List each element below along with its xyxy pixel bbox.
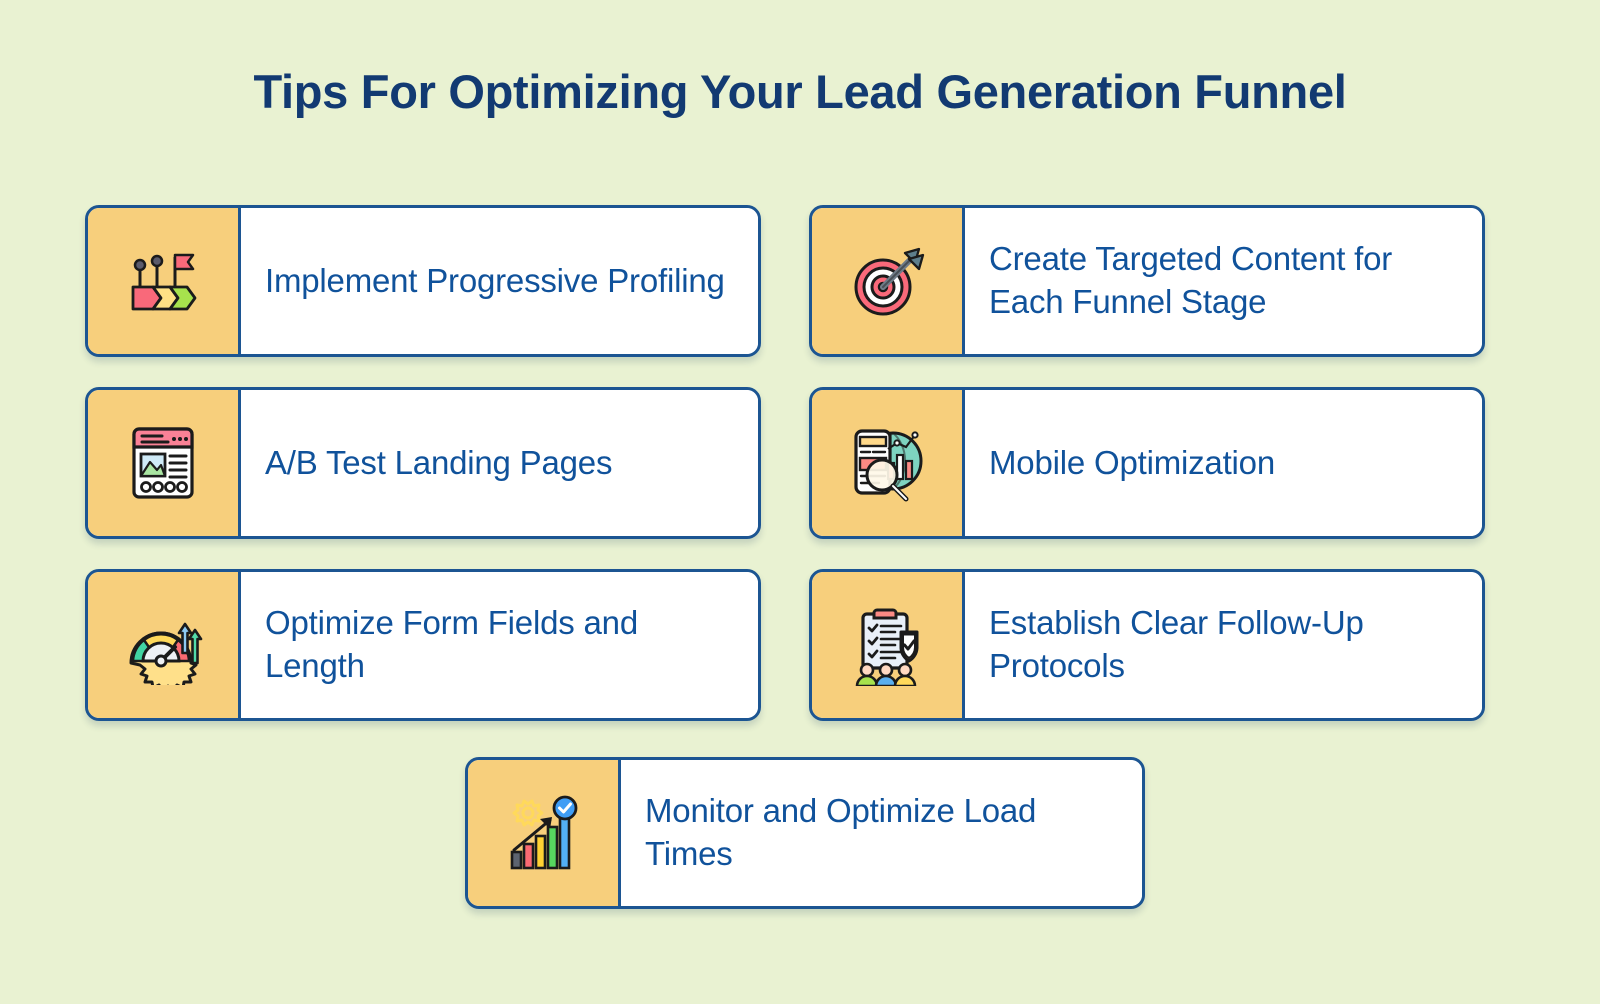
tip-card-7-body: Monitor and Optimize Load Times <box>621 760 1142 906</box>
tip-card-1-body: Implement Progressive Profiling <box>241 208 758 354</box>
tip-card-6-label: Establish Clear Follow-Up Protocols <box>989 602 1456 688</box>
tip-card-2[interactable]: Create Targeted Content for Each Funnel … <box>809 205 1485 357</box>
tip-card-1[interactable]: Implement Progressive Profiling <box>85 205 761 357</box>
tip-card-1-label: Implement Progressive Profiling <box>265 260 725 303</box>
tip-card-3-icon-panel <box>88 390 241 536</box>
tip-card-5[interactable]: Optimize Form Fields and Length <box>85 569 761 721</box>
tip-card-3[interactable]: A/B Test Landing Pages <box>85 387 761 539</box>
tip-card-7-icon-panel <box>468 760 621 906</box>
gauge-growth-icon <box>123 605 203 685</box>
tip-card-4-icon-panel <box>812 390 965 536</box>
tip-card-5-icon-panel <box>88 572 241 718</box>
tip-card-6-icon-panel <box>812 572 965 718</box>
tip-card-6[interactable]: Establish Clear Follow-Up Protocols <box>809 569 1485 721</box>
clipboard-shield-people-icon <box>849 604 925 686</box>
page-title: Tips For Optimizing Your Lead Generation… <box>0 66 1600 118</box>
title-section: Tips For Optimizing Your Lead Generation… <box>0 0 1600 118</box>
target-arrow-icon <box>847 243 927 319</box>
tip-card-2-icon-panel <box>812 208 965 354</box>
tip-card-4[interactable]: Mobile Optimization <box>809 387 1485 539</box>
tip-card-7-label: Monitor and Optimize Load Times <box>645 790 1115 876</box>
tip-card-7[interactable]: Monitor and Optimize Load Times <box>465 757 1145 909</box>
tip-card-6-body: Establish Clear Follow-Up Protocols <box>965 572 1482 718</box>
tip-card-3-body: A/B Test Landing Pages <box>241 390 758 536</box>
tip-card-5-label: Optimize Form Fields and Length <box>265 602 732 688</box>
tips-grid-last-row: Monitor and Optimize Load Times <box>465 757 1145 909</box>
tip-card-3-label: A/B Test Landing Pages <box>265 442 612 485</box>
tip-card-2-body: Create Targeted Content for Each Funnel … <box>965 208 1482 354</box>
tip-card-1-icon-panel <box>88 208 241 354</box>
mobile-analytics-icon <box>846 423 928 503</box>
tips-grid: Implement Progressive Profiling <box>85 205 1485 721</box>
tip-card-2-label: Create Targeted Content for Each Funnel … <box>989 238 1456 324</box>
tip-card-4-body: Mobile Optimization <box>965 390 1482 536</box>
infographic-page: Tips For Optimizing Your Lead Generation… <box>0 0 1600 1004</box>
tip-card-4-label: Mobile Optimization <box>989 442 1275 485</box>
milestone-flag-icon <box>123 245 203 317</box>
tip-card-5-body: Optimize Form Fields and Length <box>241 572 758 718</box>
bar-chart-gear-check-icon <box>504 794 582 872</box>
landing-page-icon <box>126 423 200 503</box>
